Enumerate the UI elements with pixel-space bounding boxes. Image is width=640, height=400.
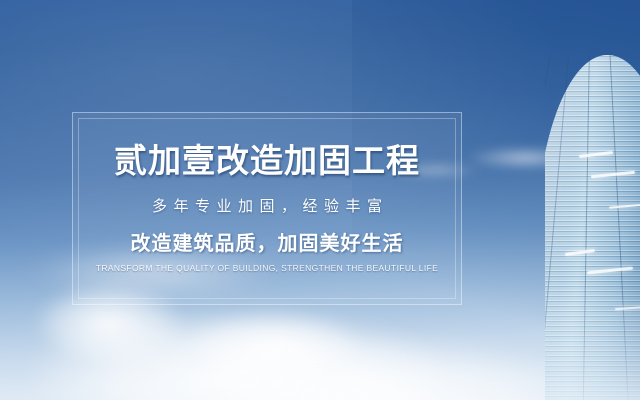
skyscraper-image	[545, 55, 640, 400]
text-frame-panel: 贰加壹改造加固工程 多年专业加固，经验丰富 改造建筑品质，加固美好生活 TRAN…	[72, 112, 462, 305]
banner-subheadline: 改造建筑品质，加固美好生活	[131, 234, 404, 254]
banner-text-block: 贰加壹改造加固工程 多年专业加固，经验丰富 改造建筑品质，加固美好生活 TRAN…	[73, 113, 461, 304]
banner-headline: 贰加壹改造加固工程	[114, 144, 420, 177]
skyscraper-base-haze	[545, 280, 640, 400]
promotional-banner: 贰加壹改造加固工程 多年专业加固，经验丰富 改造建筑品质，加固美好生活 TRAN…	[0, 0, 640, 400]
banner-tagline: 多年专业加固，经验丰富	[145, 199, 388, 214]
banner-english-caption: TRANSFORM THE QUALITY OF BUILDING, STREN…	[96, 264, 438, 273]
